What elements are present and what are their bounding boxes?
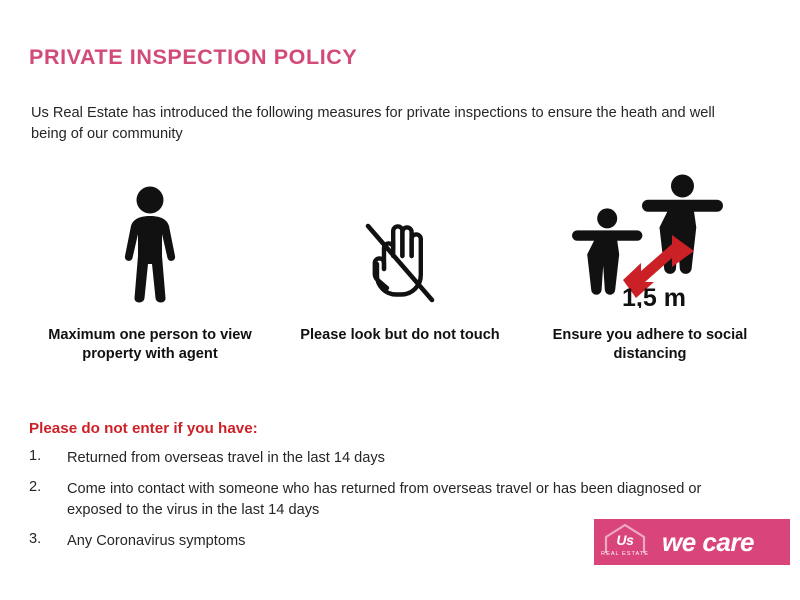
- measures-row: Maximum one person to view property with…: [25, 168, 775, 378]
- distance-label: 1,5 m: [622, 284, 686, 308]
- measure-caption-3: Ensure you adhere to social distancing: [540, 326, 760, 364]
- list-item-text: Any Coronavirus symptoms: [67, 531, 245, 552]
- intro-paragraph: Us Real Estate has introduced the follow…: [31, 103, 745, 145]
- list-item: 2. Come into contact with someone who ha…: [29, 479, 759, 521]
- measure-icon-3: 1,5 m: [566, 168, 734, 308]
- warning-heading: Please do not enter if you have:: [29, 420, 258, 437]
- brand-logo: Us REAL ESTATE we care: [594, 519, 790, 565]
- no-touch-hand-icon: [359, 212, 441, 308]
- logo-mark-text: Us: [616, 532, 633, 548]
- social-distancing-icon: 1,5 m: [566, 168, 734, 308]
- measure-icon-1: [119, 168, 181, 308]
- list-item-number: 2.: [29, 479, 67, 521]
- list-item-text: Returned from overseas travel in the las…: [67, 448, 385, 469]
- measure-caption-2: Please look but do not touch: [300, 326, 500, 345]
- measure-caption-1: Maximum one person to view property with…: [40, 326, 260, 364]
- list-item-number: 3.: [29, 531, 67, 552]
- logo-mark: Us REAL ESTATE: [594, 521, 656, 563]
- measure-icon-2: [359, 168, 441, 308]
- standing-person-icon: [119, 186, 181, 308]
- logo-tagline: we care: [656, 527, 790, 558]
- page-title: PRIVATE INSPECTION POLICY: [29, 45, 357, 70]
- measure-column-2: Please look but do not touch: [275, 168, 525, 345]
- list-item-number: 1.: [29, 448, 67, 469]
- list-item: 1. Returned from overseas travel in the …: [29, 448, 759, 469]
- policy-slide: PRIVATE INSPECTION POLICY Us Real Estate…: [0, 0, 800, 600]
- list-item-text: Come into contact with someone who has r…: [67, 479, 759, 521]
- measure-column-1: Maximum one person to view property with…: [25, 168, 275, 364]
- logo-mark-subtitle: REAL ESTATE: [601, 551, 649, 557]
- measure-column-3: 1,5 m Ensure you adhere to social distan…: [525, 168, 775, 364]
